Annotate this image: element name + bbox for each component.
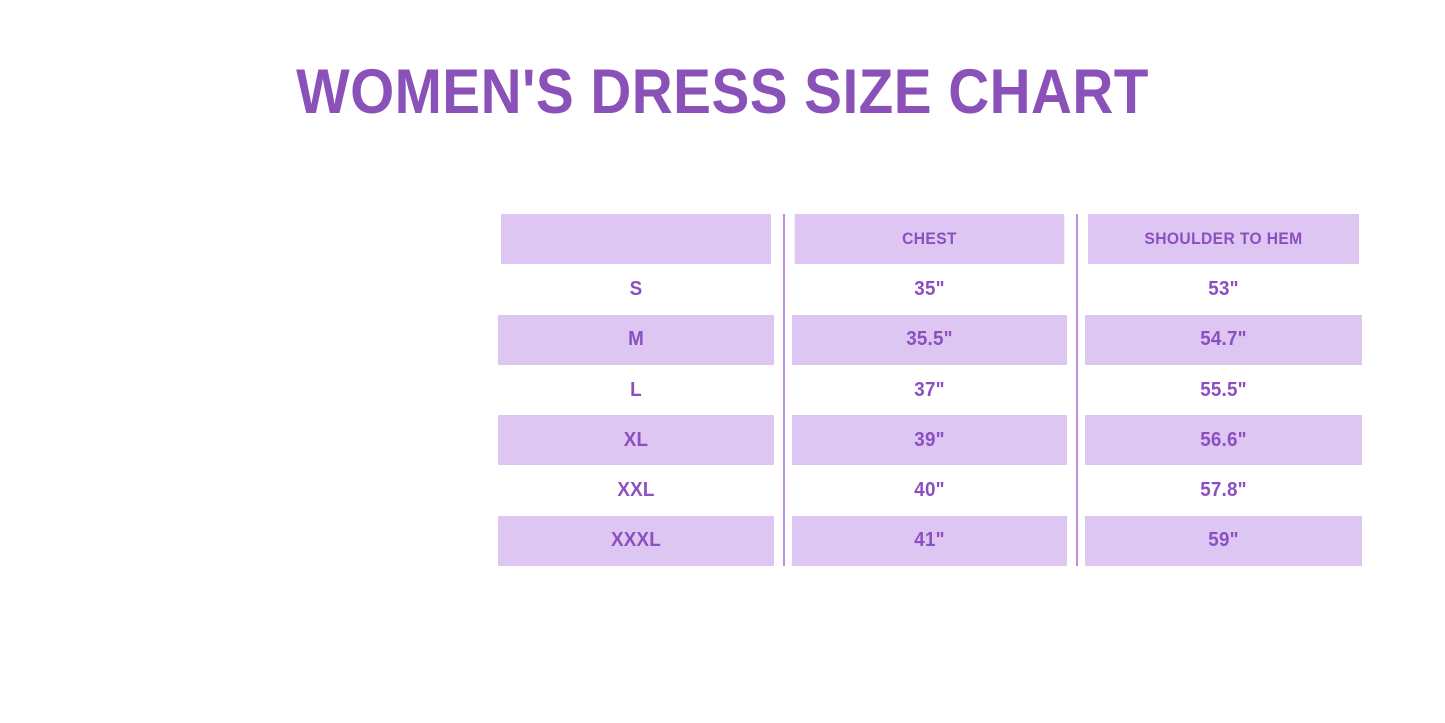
table-row: S 35" 53" [489,264,1371,314]
cell-hem: 57.8" [1085,465,1362,515]
cell-hem: 53" [1085,264,1362,314]
table-body: S 35" 53" M 35.5" 54.7" L 37" 55.5" XL 3… [489,264,1371,566]
cell-hem: 54.7" [1085,315,1362,365]
cell-size: S [498,264,774,314]
cell-size: M [498,315,774,365]
table-row: M 35.5" 54.7" [489,315,1371,365]
table-header: CHEST SHOULDER TO HEM [489,214,1371,264]
cell-size: XXL [498,465,774,515]
table-row: XL 39" 56.6" [489,415,1371,465]
cell-chest: 35.5" [792,315,1067,365]
column-header-chest: CHEST [795,214,1065,264]
table-row: XXXL 41" 59" [489,516,1371,566]
page-title: WOMEN'S DRESS SIZE CHART [72,57,1373,127]
size-chart-table-container: CHEST SHOULDER TO HEM S 35" 53" M 35.5" … [489,214,1371,566]
cell-hem: 59" [1085,516,1362,566]
cell-chest: 39" [792,415,1067,465]
cell-chest: 35" [792,264,1067,314]
table-header-row: CHEST SHOULDER TO HEM [489,214,1371,264]
size-chart-table: CHEST SHOULDER TO HEM S 35" 53" M 35.5" … [489,214,1371,566]
cell-hem: 56.6" [1085,415,1362,465]
cell-chest: 37" [792,365,1067,415]
column-header-shoulder-to-hem: SHOULDER TO HEM [1088,214,1359,264]
cell-size: L [498,365,774,415]
table-row: L 37" 55.5" [489,365,1371,415]
cell-size: XXXL [498,516,774,566]
cell-hem: 55.5" [1085,365,1362,415]
cell-size: XL [498,415,774,465]
column-header-size [501,214,771,264]
cell-chest: 41" [792,516,1067,566]
cell-chest: 40" [792,465,1067,515]
size-chart-page: WOMEN'S DRESS SIZE CHART CHEST SHOULDER … [0,0,1445,723]
table-row: XXL 40" 57.8" [489,465,1371,515]
